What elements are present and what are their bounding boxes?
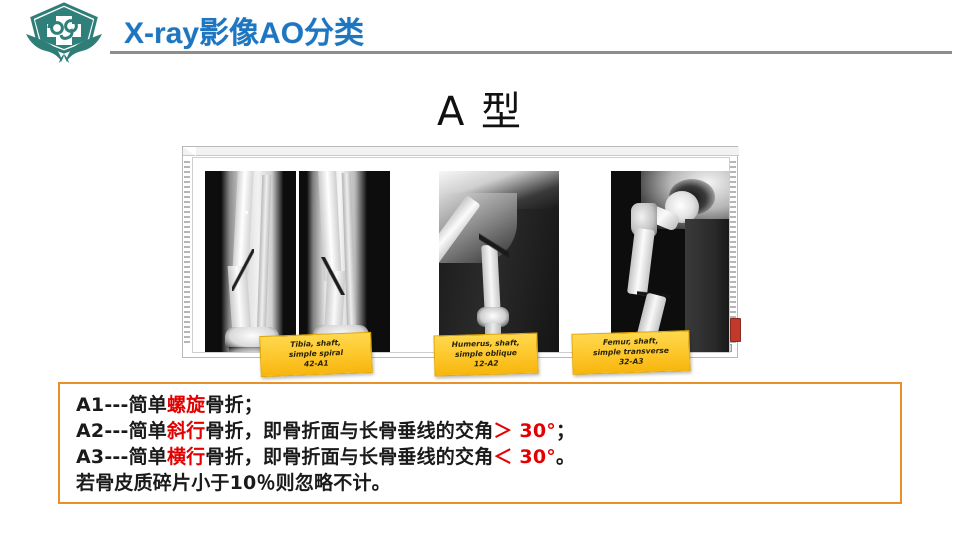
xray-viewer-area bbox=[192, 157, 730, 353]
desc-text: A3---简单 bbox=[76, 446, 167, 468]
desc-highlight: 横行 bbox=[167, 446, 205, 468]
desc-highlight: 螺旋 bbox=[167, 394, 205, 416]
section-heading: A 型 bbox=[0, 79, 960, 137]
ruler-edge-right-icon bbox=[730, 161, 736, 343]
red-marker-tab[interactable] bbox=[730, 318, 741, 342]
desc-text: A2---简单 bbox=[76, 420, 167, 442]
xray-film-femur[interactable] bbox=[611, 171, 730, 353]
slide-root: X-ray影像AO分类 A 型 bbox=[0, 0, 960, 540]
header-divider bbox=[110, 51, 952, 54]
xray-caption-note-tibia: Tibia, shaft, simple spiral 42-A1 bbox=[259, 332, 372, 377]
desc-text: 若骨皮质碎片小于10％则忽略不计。 bbox=[76, 472, 391, 494]
frame-bevel-top bbox=[183, 147, 739, 156]
xray-film-tibia-pair[interactable] bbox=[205, 171, 390, 353]
desc-text: A1---简单 bbox=[76, 394, 167, 416]
frame-bevel-corner bbox=[183, 147, 196, 156]
desc-text-3: 。 bbox=[556, 446, 575, 468]
page-title: X-ray影像AO分类 bbox=[124, 8, 364, 52]
xray-film-tibia-lateral[interactable] bbox=[299, 171, 390, 353]
description-line-a3: A3---简单横行骨折，即骨折面与长骨垂线的交角＜ 30°。 bbox=[76, 444, 900, 470]
xray-film-humerus[interactable] bbox=[439, 171, 559, 353]
xray-caption-note-femur: Femur, shaft, simple transverse 32-A3 bbox=[571, 330, 690, 375]
desc-highlight-angle: ＞ 30° bbox=[493, 420, 556, 442]
desc-text-2: 骨折，即骨折面与长骨垂线的交角 bbox=[205, 420, 493, 442]
ruler-edge-left-icon bbox=[184, 161, 190, 343]
description-line-a2: A2---简单斜行骨折，即骨折面与长骨垂线的交角＞ 30°； bbox=[76, 418, 900, 444]
description-line-note: 若骨皮质碎片小于10％则忽略不计。 bbox=[76, 470, 900, 496]
xray-image-group: Tibia, shaft, simple spiral 42-A1 Humeru… bbox=[182, 146, 738, 370]
slide-header: X-ray影像AO分类 bbox=[0, 0, 960, 58]
desc-text-2: 骨折； bbox=[205, 394, 263, 416]
xray-caption-note-humerus: Humerus, shaft, simple oblique 12-A2 bbox=[433, 333, 538, 377]
desc-highlight-angle: ＜ 30° bbox=[493, 446, 556, 468]
note-line-3: 12-A2 bbox=[440, 358, 532, 371]
xray-lightbox-frame bbox=[182, 146, 738, 358]
desc-text-3: ； bbox=[556, 420, 575, 442]
description-line-a1: A1---简单螺旋骨折； bbox=[76, 392, 900, 418]
classification-description-box: A1---简单螺旋骨折； A2---简单斜行骨折，即骨折面与长骨垂线的交角＞ 3… bbox=[58, 382, 902, 504]
desc-highlight: 斜行 bbox=[167, 420, 205, 442]
xray-film-strip bbox=[205, 171, 730, 353]
hospital-emblem-logo bbox=[18, 2, 110, 62]
xray-film-tibia-ap[interactable] bbox=[205, 171, 296, 353]
desc-text-2: 骨折，即骨折面与长骨垂线的交角 bbox=[205, 446, 493, 468]
